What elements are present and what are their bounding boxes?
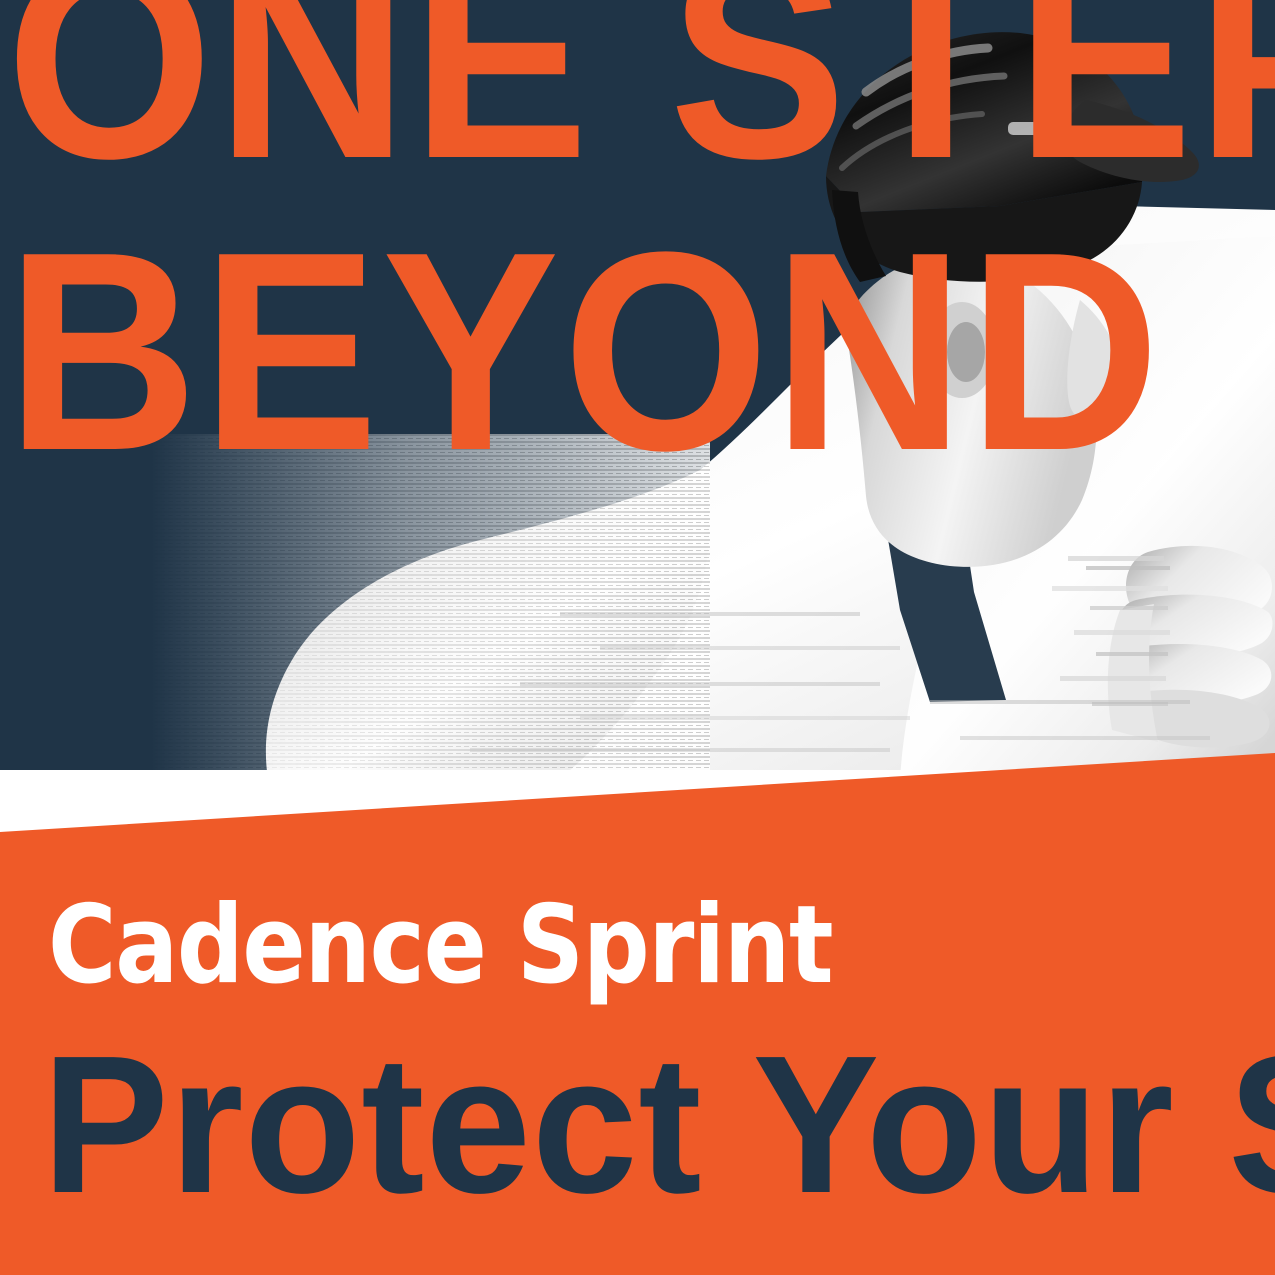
headline-line-1: ONE STEP xyxy=(6,0,1275,172)
show-title: Cadence Sprint xyxy=(48,892,832,1000)
podcast-cover-artwork: ONE STEP BEYOND Cadence Sprint Protect Y… xyxy=(0,0,1275,1275)
episode-title: Protect Your Sleep xyxy=(42,1027,1275,1223)
hero-panel: ONE STEP BEYOND xyxy=(0,0,1275,779)
headline-line-2: BEYOND xyxy=(6,238,1163,464)
